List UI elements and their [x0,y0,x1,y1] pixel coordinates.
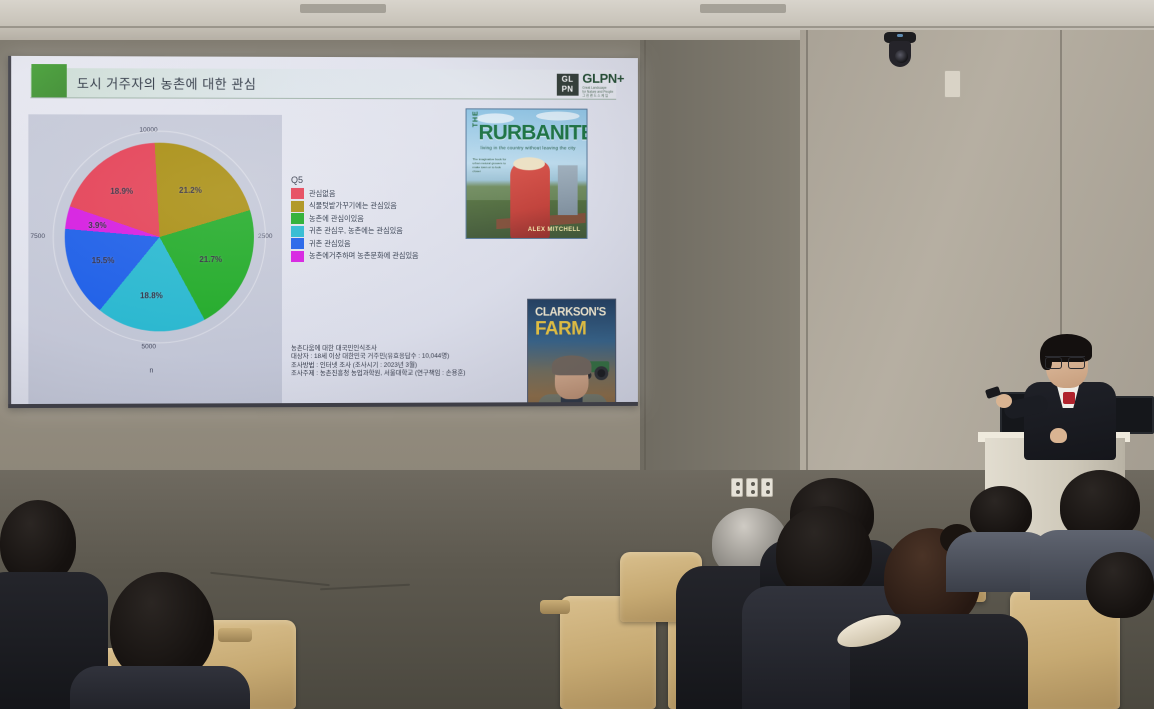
chart-tick-bottom: 5000 [141,343,156,350]
logo-box-line2: PN [557,84,579,94]
projection-screen: 도시 거주자의 농촌에 대한 관심 GL PN GLPN+ Great Land… [8,56,638,408]
logo-wordmark: GLPN+ [582,71,624,86]
legend-label: 농촌에 관심이있음 [309,213,364,223]
book-author: ALEX MITCHELL [528,227,581,233]
legend-swatch [291,188,304,199]
ceiling-vent [700,4,786,13]
legend-label: 귀촌 관심있음 [309,238,351,248]
sun-hat [513,157,545,170]
chart-tick-left: 7500 [30,233,45,240]
wall-dark-strip [640,40,810,480]
chart-legend: Q5 관심없음식물텃밭가꾸기에는 관심있음농촌에 관심이있음귀촌 관심우, 농촌… [291,175,480,263]
camera-status-led-icon [897,34,903,37]
glasses-icon [1045,356,1085,366]
legend-swatch [291,238,304,249]
ceiling-seam [0,26,1154,28]
legend-swatch [291,213,304,224]
legend-label: 관심없음 [309,188,335,198]
legend-title: Q5 [291,175,480,185]
legend-swatch [291,251,304,262]
ceiling-vent [300,4,386,13]
logo-box-line1: GL [557,74,579,84]
legend-label: 식물텃밭가꾸기에는 관심있음 [309,201,397,211]
audience-head [1086,552,1154,618]
chart-panel: 10000 2500 5000 7500 n 18.9% 21.2% 21.7%… [28,114,282,406]
pie-label-4: 15.5% [92,256,115,265]
book-blurb: The imaginative book for urban natural g… [473,157,507,173]
tractor-wheel-rear [594,366,608,380]
wall-access-plate [944,70,961,98]
pie-slices [65,143,254,332]
legend-swatch [291,225,304,236]
tower-block [558,165,578,215]
legend-item: 농촌에 관심이있음 [291,213,480,224]
page-title: 도시 거주자의 농촌에 대한 관심 [77,73,256,93]
legend-item: 농촌에거주하며 농촌문화에 관심있음 [291,250,480,261]
seat-armrest [218,628,252,642]
presenter-hair [552,355,592,375]
presenter-bowtie [1063,392,1075,404]
legend-item: 귀촌 관심있음 [291,238,480,249]
book-title: RURBANITE [478,121,587,145]
seat-armrest [540,600,570,614]
book-subtitle: living in the country without leaving th… [480,145,575,150]
legend-item: 귀촌 관심우, 농촌에는 관심있음 [291,225,480,236]
pie-label-0: 18.9% [110,186,133,195]
legend-label: 농촌에거주하며 농촌문화에 관심있음 [309,251,419,261]
legend-item: 관심없음 [291,188,480,199]
power-socket [731,478,743,497]
pie-chart: 18.9% 21.2% 21.7% 18.8% 15.5% 3.9% [65,143,254,332]
clarksons-farm-image: CLARKSON'S FARM [527,299,616,408]
lecture-hall-scene: 도시 거주자의 농촌에 대한 관심 GL PN GLPN+ Great Land… [0,0,1154,709]
pie-label-3: 18.8% [140,291,163,300]
legend-label: 귀촌 관심우, 농촌에는 관심있음 [309,226,403,236]
power-socket [746,478,758,497]
audience-shoulders [70,666,250,709]
presenter-hand-second [1050,428,1067,443]
glpn-logo-box: GL PN [557,73,579,95]
wall-socket-group [731,478,773,497]
presenter [1018,336,1128,456]
wall-panel-seam [806,30,808,500]
pie-label-5: 3.9% [88,221,106,230]
poster-title-line2: FARM [535,319,586,341]
glpn-logo: GL PN GLPN+ Great Landscape for Nature a… [557,71,624,98]
power-socket [761,478,773,497]
presentation-slide: 도시 거주자의 농촌에 대한 관심 GL PN GLPN+ Great Land… [8,56,638,408]
poster-title-line1: CLARKSON'S [535,307,606,319]
camera-lens-icon [895,50,908,63]
logo-sub-line3: 그 린 랜 드 스 케 입 [582,94,624,98]
slide-accent-square [31,64,66,97]
legend-item: 식물텃밭가꾸기에는 관심있음 [291,200,480,211]
pie-label-1: 21.2% [179,185,202,194]
chart-n-label: n [149,367,153,374]
presenter-hand [996,394,1012,408]
pie-label-2: 21.7% [199,255,222,264]
screen-frame-left [8,56,11,408]
legend-swatch [291,200,304,211]
cloud-shape [536,112,580,121]
wall-panel-seam [644,40,646,480]
rurbanite-book-image: THE RURBANITE living in the country with… [466,108,588,239]
